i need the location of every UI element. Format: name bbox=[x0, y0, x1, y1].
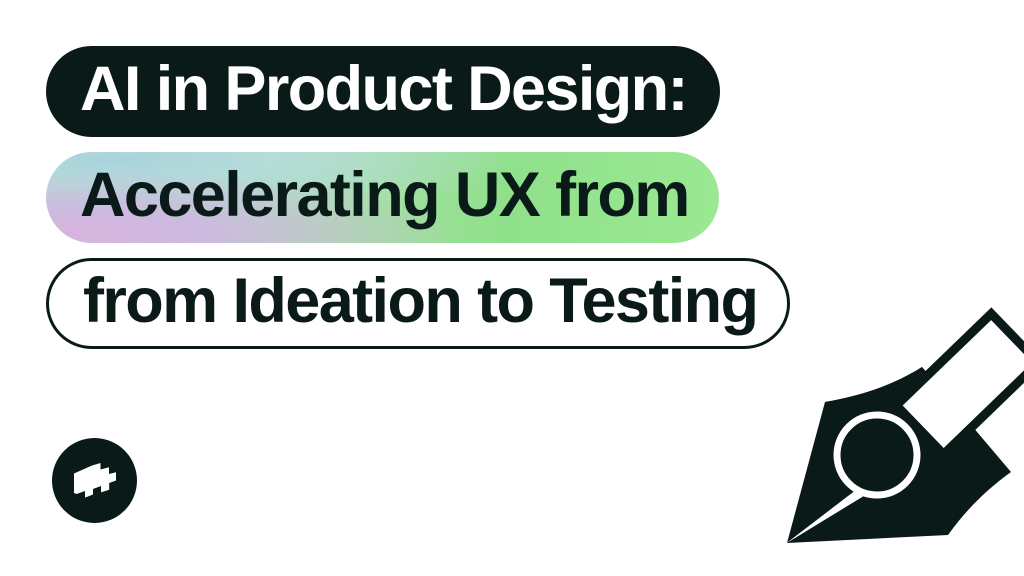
headline-pill-line-1: AI in Product Design: bbox=[46, 46, 720, 137]
logo-badge bbox=[52, 438, 137, 523]
headline-line-1-text: AI in Product Design: bbox=[80, 58, 687, 121]
poster-canvas: AI in Product Design: Accelerating UX fr… bbox=[0, 0, 1024, 576]
zigzag-mark-icon bbox=[72, 460, 118, 502]
headline-pill-line-2: Accelerating UX from bbox=[46, 152, 719, 243]
headline-line-3-text: from Ideation to Testing bbox=[83, 270, 757, 333]
headline-line-2-text: Accelerating UX from bbox=[80, 164, 689, 227]
headline-pill-line-3: from Ideation to Testing bbox=[46, 258, 790, 349]
pen-nib-icon bbox=[770, 310, 1024, 576]
